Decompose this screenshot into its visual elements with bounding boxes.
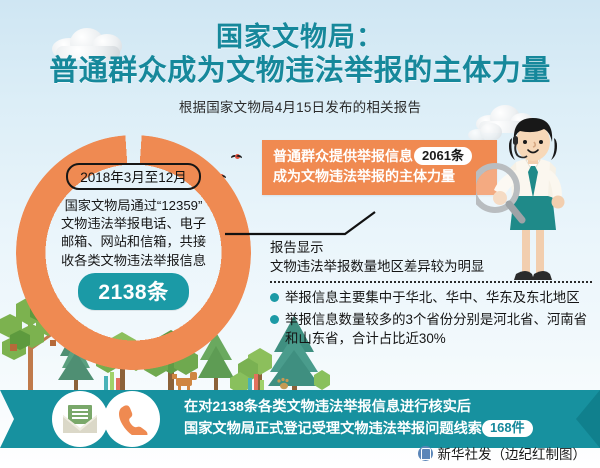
list-item-text: 举报信息数量较多的3个省份分别是河北省、河南省和山东省，合计占比近30% [285, 312, 587, 346]
bullet-dot-icon [270, 293, 279, 302]
credit-text: 新华社发（边纪红制图） [438, 443, 587, 463]
donut-description-line1: 国家文物局通过“12359” [20, 197, 248, 215]
xinhua-logo-icon [418, 446, 433, 461]
bullet-dot-icon [270, 315, 279, 324]
donut-description-line2: 文物违法举报电话、电子 [20, 215, 248, 233]
donut-content: 2018年3月至12月 国家文物局通过“12359” 文物违法举报电话、电子 邮… [16, 135, 251, 370]
ribbon-line2-text: 国家文物局正式登记受理文物违法举报问题线索 [184, 421, 482, 437]
credit-line: 新华社发（边纪红制图） [418, 443, 587, 463]
donut-description-line3: 邮箱、网站和信箱，共接 [20, 233, 248, 251]
ribbon-line1: 在对2138条各类文物违法举报信息进行核实后 [184, 397, 584, 419]
callout-line1-text: 普通群众提供举报信息 [273, 148, 413, 164]
list-item: 举报信息数量较多的3个省份分别是河北省、河南省和山东省，合计占比近30% [270, 310, 596, 348]
list-item: 举报信息主要集中于华北、华中、华东及东北地区 [270, 288, 596, 307]
phone-icon [116, 403, 148, 435]
findings-list: 举报信息主要集中于华北、华中、华东及东北地区 举报信息数量较多的3个省份分别是河… [270, 288, 596, 348]
ribbon-number-badge: 168件 [482, 420, 533, 438]
public-reports-callout: 普通群众提供举报信息2061条 成为文物违法举报的主体力量 [262, 140, 497, 195]
ribbon-line2: 国家文物局正式登记受理文物违法举报问题线索168件 [184, 419, 584, 441]
envelope-badge [52, 391, 108, 447]
callout-line2: 成为文物违法举报的主体力量 [273, 167, 487, 187]
date-range-pill: 2018年3月至12月 [66, 163, 201, 190]
dotted-divider [270, 281, 592, 283]
ribbon-message: 在对2138条各类文物违法举报信息进行核实后 国家文物局正式登记受理文物违法举报… [184, 397, 584, 440]
page-subtitle: 根据国家文物局4月15日发布的相关报告 [0, 96, 600, 116]
report-findings-block: 报告显示 文物违法举报数量地区差异较为明显 举报信息主要集中于华北、华中、华东及… [270, 238, 596, 351]
donut-description-line4: 收各类文物违法举报信息 [20, 252, 248, 270]
headline-block: 国家文物局： 普通群众成为文物违法举报的主体力量 根据国家文物局4月15日发布的… [0, 22, 600, 116]
total-reports-badge: 2138条 [78, 273, 188, 310]
callout-line1: 普通群众提供举报信息2061条 [273, 147, 487, 167]
page-title-line2: 普通群众成为文物违法举报的主体力量 [0, 54, 600, 89]
donut-description: 国家文物局通过“12359” 文物违法举报电话、电子 邮箱、网站和信箱，共接 收… [20, 197, 248, 270]
page-title-line1: 国家文物局： [0, 22, 600, 54]
infographic-poster: 国家文物局： 普通群众成为文物违法举报的主体力量 根据国家文物局4月15日发布的… [0, 0, 600, 468]
list-item-text: 举报信息主要集中于华北、华中、华东及东北地区 [285, 290, 580, 305]
phone-badge [104, 391, 160, 447]
report-lead-line2: 文物违法举报数量地区差异较为明显 [270, 257, 596, 276]
envelope-icon [63, 405, 97, 433]
report-lead-line1: 报告显示 [270, 238, 596, 257]
callout-number-badge: 2061条 [414, 147, 472, 165]
